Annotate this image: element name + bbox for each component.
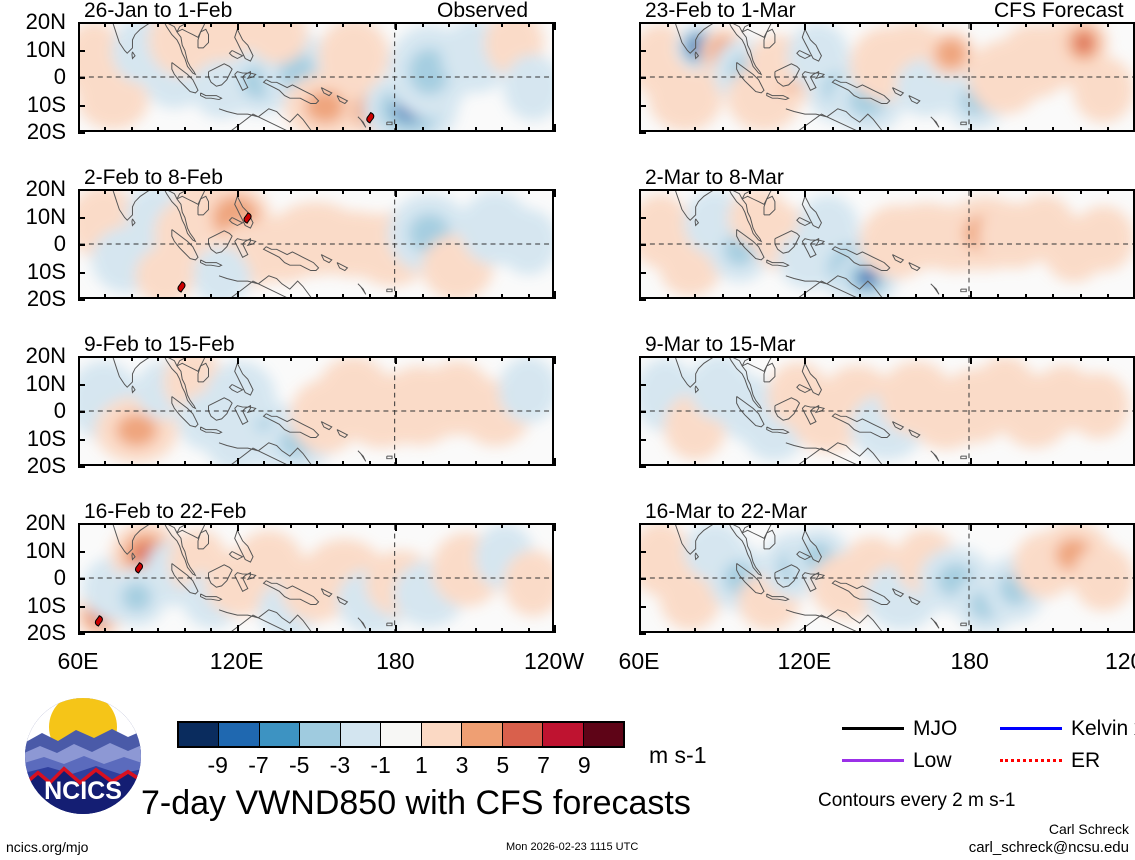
- x-axis-tickmark: [722, 294, 724, 299]
- x-axis-tickmark: [1052, 356, 1054, 361]
- x-axis-tickmark: [887, 189, 889, 194]
- x-axis-tickmark: [997, 356, 999, 361]
- x-axis-tickmark: [104, 294, 106, 299]
- x-axis-tickmark: [475, 523, 477, 528]
- x-axis-tickmark: [475, 628, 477, 633]
- x-axis-tickmark: [157, 461, 159, 466]
- x-axis-tickmark: [832, 628, 834, 633]
- map-field: [80, 358, 552, 464]
- y-axis-tickmark: [78, 299, 85, 301]
- low-line-icon: [842, 759, 904, 762]
- x-axis-tickmark: [395, 22, 397, 30]
- y-axis-tickmark: [639, 439, 646, 441]
- x-axis-tickmark: [859, 22, 861, 27]
- colorbar-units-label: m s-1: [649, 744, 707, 767]
- x-axis-tickmark: [722, 189, 724, 194]
- x-axis-tickmark: [1080, 294, 1082, 299]
- credit-email[interactable]: carl_schreck@ncsu.edu: [969, 840, 1129, 855]
- x-axis-tickmark: [639, 124, 641, 132]
- x-axis-tickmark: [1025, 356, 1027, 361]
- y-axis-tickmark: [639, 466, 646, 468]
- x-axis-tickmark: [722, 461, 724, 466]
- x-axis-tickmark: [1080, 189, 1082, 194]
- x-axis-tickmark: [1025, 189, 1027, 194]
- x-axis-tick-label: 120E: [195, 650, 279, 673]
- y-axis-tick-label: 0: [0, 567, 66, 589]
- x-axis-tickmark: [554, 124, 556, 132]
- x-axis-tickmark: [887, 461, 889, 466]
- colorbar-segment: [584, 723, 623, 746]
- x-axis-tick-label: 120E: [762, 650, 846, 673]
- x-axis-tickmark: [694, 294, 696, 299]
- x-axis-tickmark: [78, 458, 80, 466]
- colorbar-segment: [300, 723, 340, 746]
- x-axis-tickmark: [887, 628, 889, 633]
- x-axis-tickmark: [475, 189, 477, 194]
- x-axis-tickmark: [501, 461, 503, 466]
- y-axis-tickmark: [639, 633, 646, 635]
- x-axis-tickmark: [342, 294, 344, 299]
- map-panel: [639, 523, 1135, 633]
- y-axis-tickmark: [639, 244, 646, 246]
- x-axis-tickmark: [131, 523, 133, 528]
- x-axis-tickmark: [501, 356, 503, 361]
- ncics-logo-text: NCICS: [44, 777, 122, 805]
- x-axis-tickmark: [184, 356, 186, 361]
- main-title: 7-day VWND850 with CFS forecasts: [141, 786, 691, 820]
- map-field: [80, 525, 552, 631]
- x-axis-tickmark: [369, 294, 371, 299]
- x-axis-tickmark: [859, 628, 861, 633]
- map-panel: [78, 523, 554, 633]
- y-axis-tickmark: [639, 384, 646, 386]
- x-axis-tickmark: [1107, 461, 1109, 466]
- x-axis-tickmark: [639, 625, 641, 633]
- y-axis-tickmark: [639, 132, 646, 134]
- x-axis-tickmark: [369, 189, 371, 194]
- x-axis-tickmark: [104, 628, 106, 633]
- panel-title: 9-Mar to 15-Mar: [645, 334, 796, 355]
- x-axis-tickmark: [237, 124, 239, 132]
- y-axis-tickmark: [78, 77, 85, 79]
- x-axis-tickmark: [554, 22, 556, 30]
- x-axis-tickmark: [832, 127, 834, 132]
- x-axis-tickmark: [369, 523, 371, 528]
- x-axis-tickmark: [263, 628, 265, 633]
- x-axis-tickmark: [157, 189, 159, 194]
- x-axis-tickmark: [832, 294, 834, 299]
- x-axis-tickmark: [369, 461, 371, 466]
- x-axis-tickmark: [528, 356, 530, 361]
- x-axis-tickmark: [210, 356, 212, 361]
- legend-label-mjo: MJO: [913, 718, 957, 739]
- x-axis-tickmark: [395, 356, 397, 364]
- x-axis-tickmark: [263, 523, 265, 528]
- x-axis-tickmark: [448, 294, 450, 299]
- x-axis-tickmark: [237, 291, 239, 299]
- y-axis-tickmark: [78, 633, 85, 635]
- panel-title: 2-Mar to 8-Mar: [645, 167, 784, 188]
- x-axis-tickmark: [942, 22, 944, 27]
- x-axis-tickmark: [749, 189, 751, 194]
- x-axis-tickmark: [395, 625, 397, 633]
- x-axis-tickmark: [639, 356, 641, 364]
- x-axis-tickmark: [1080, 461, 1082, 466]
- colorbar-segment: [179, 723, 219, 746]
- x-axis-tickmark: [777, 523, 779, 528]
- x-axis-tickmark: [832, 523, 834, 528]
- x-axis-tickmark: [1080, 127, 1082, 132]
- x-axis-tickmark: [970, 356, 972, 364]
- map-field: [641, 191, 1133, 297]
- x-axis-tickmark: [263, 356, 265, 361]
- panel-title: 16-Mar to 22-Mar: [645, 501, 807, 522]
- x-axis-tickmark: [237, 189, 239, 197]
- x-axis-tickmark: [1052, 523, 1054, 528]
- footer-site-link[interactable]: ncics.org/mjo: [6, 840, 88, 854]
- x-axis-tickmark: [131, 189, 133, 194]
- x-axis-tickmark: [639, 523, 641, 531]
- x-axis-tickmark: [1052, 189, 1054, 194]
- x-axis-tickmark: [342, 127, 344, 132]
- x-axis-tickmark: [210, 461, 212, 466]
- x-axis-tickmark: [395, 523, 397, 531]
- x-axis-tickmark: [804, 458, 806, 466]
- y-axis-tickmark: [78, 384, 85, 386]
- x-axis-tickmark: [422, 127, 424, 132]
- x-axis-tickmark: [722, 127, 724, 132]
- x-axis-tickmark: [237, 22, 239, 30]
- x-axis-tickmark: [1107, 189, 1109, 194]
- x-axis-tickmark: [184, 294, 186, 299]
- x-axis-tickmark: [639, 291, 641, 299]
- x-axis-tickmark: [342, 189, 344, 194]
- x-axis-tickmark: [667, 189, 669, 194]
- x-axis-tickmark: [369, 356, 371, 361]
- x-axis-tickmark: [777, 294, 779, 299]
- x-axis-tickmark: [369, 628, 371, 633]
- x-axis-tickmark: [942, 523, 944, 528]
- x-axis-tickmark: [395, 458, 397, 466]
- colorbar-segment: [503, 723, 543, 746]
- x-axis-tickmark: [131, 294, 133, 299]
- colorbar-segment: [260, 723, 300, 746]
- x-axis-tickmark: [104, 461, 106, 466]
- x-axis-tickmark: [104, 356, 106, 361]
- x-axis-tickmark: [997, 523, 999, 528]
- x-axis-tickmark: [157, 356, 159, 361]
- er-line-icon: [1000, 759, 1062, 762]
- map-panel: [78, 22, 554, 132]
- x-axis-tickmark: [694, 461, 696, 466]
- x-axis-tickmark: [290, 189, 292, 194]
- y-axis-tickmark: [78, 606, 85, 608]
- x-axis-tickmark: [804, 124, 806, 132]
- x-axis-tickmark: [970, 625, 972, 633]
- x-axis-tickmark: [395, 124, 397, 132]
- x-axis-tickmark: [832, 461, 834, 466]
- x-axis-tickmark: [639, 22, 641, 30]
- x-axis-tickmark: [694, 628, 696, 633]
- colorbar-segment: [543, 723, 583, 746]
- y-axis-tick-label: 0: [0, 233, 66, 255]
- x-axis-tickmark: [422, 189, 424, 194]
- legend-item-low: Low: [842, 750, 952, 771]
- x-axis-tickmark: [104, 127, 106, 132]
- x-axis-tickmark: [1107, 356, 1109, 361]
- x-axis-tickmark: [1025, 628, 1027, 633]
- ncics-logo: NCICS: [24, 697, 142, 815]
- x-axis-tickmark: [777, 356, 779, 361]
- x-axis-tickmark: [915, 189, 917, 194]
- x-axis-tickmark: [104, 22, 106, 27]
- x-axis-tickmark: [804, 625, 806, 633]
- x-axis-tickmark: [859, 294, 861, 299]
- x-axis-tickmark: [1080, 628, 1082, 633]
- x-axis-tickmark: [832, 189, 834, 194]
- x-axis-tickmark: [887, 523, 889, 528]
- x-axis-tickmark: [210, 523, 212, 528]
- y-axis-tickmark: [639, 551, 646, 553]
- map-panel: [78, 189, 554, 299]
- panel-title: 9-Feb to 15-Feb: [84, 334, 235, 355]
- x-axis-tickmark: [78, 189, 80, 197]
- panel-title: 2-Feb to 8-Feb: [84, 167, 223, 188]
- x-axis-tickmark: [1025, 294, 1027, 299]
- x-axis-tickmark: [316, 523, 318, 528]
- panel-title: 23-Feb to 1-Mar: [645, 0, 796, 21]
- x-axis-tickmark: [422, 356, 424, 361]
- x-axis-tickmark: [942, 628, 944, 633]
- x-axis-tickmark: [722, 22, 724, 27]
- x-axis-tickmark: [184, 461, 186, 466]
- x-axis-tickmark: [1080, 356, 1082, 361]
- x-axis-tickmark: [554, 458, 556, 466]
- x-axis-tickmark: [997, 628, 999, 633]
- x-axis-tickmark: [1080, 22, 1082, 27]
- x-axis-tickmark: [915, 22, 917, 27]
- x-axis-tickmark: [859, 461, 861, 466]
- x-axis-tickmark: [667, 461, 669, 466]
- x-axis-tickmark: [316, 628, 318, 633]
- x-axis-tickmark: [915, 523, 917, 528]
- x-axis-tickmark: [554, 523, 556, 531]
- x-axis-tickmark: [859, 356, 861, 361]
- x-axis-tickmark: [369, 22, 371, 27]
- x-axis-tickmark: [694, 22, 696, 27]
- x-axis-tick-label: 180: [928, 650, 1012, 673]
- x-axis-tickmark: [859, 189, 861, 194]
- x-axis-tickmark: [184, 189, 186, 194]
- x-axis-tickmark: [422, 461, 424, 466]
- x-axis-tickmark: [528, 461, 530, 466]
- x-axis-tickmark: [777, 127, 779, 132]
- x-axis-tick-label: 120W: [512, 650, 596, 673]
- x-axis-tickmark: [78, 22, 80, 30]
- x-axis-tickmark: [749, 628, 751, 633]
- x-axis-tickmark: [157, 294, 159, 299]
- y-axis-tickmark: [78, 244, 85, 246]
- x-axis-tickmark: [915, 356, 917, 361]
- y-axis-tick-label: 20S: [0, 288, 66, 310]
- y-axis-tickmark: [639, 606, 646, 608]
- x-axis-tickmark: [915, 461, 917, 466]
- x-axis-tickmark: [448, 523, 450, 528]
- x-axis-tickmark: [316, 127, 318, 132]
- x-axis-tickmark: [131, 461, 133, 466]
- x-axis-tickmark: [157, 523, 159, 528]
- x-axis-tickmark: [804, 22, 806, 30]
- y-axis-tick-label: 20N: [0, 178, 66, 200]
- x-axis-tickmark: [915, 628, 917, 633]
- x-axis-tickmark: [777, 189, 779, 194]
- x-axis-tickmark: [997, 22, 999, 27]
- column-label-cfs-forecast: CFS Forecast: [994, 0, 1124, 21]
- mjo-line-icon: [842, 727, 904, 730]
- y-axis-tickmark: [78, 439, 85, 441]
- x-axis-tickmark: [859, 523, 861, 528]
- legend-label-kelvin: Kelvin x2: [1071, 718, 1135, 739]
- x-axis-tickmark: [342, 461, 344, 466]
- x-axis-tickmark: [422, 628, 424, 633]
- x-axis-tickmark: [887, 356, 889, 361]
- x-axis-tickmark: [78, 291, 80, 299]
- x-axis-tickmark: [448, 127, 450, 132]
- x-axis-tickmark: [104, 523, 106, 528]
- kelvin-line-icon: [1000, 727, 1062, 730]
- x-axis-tickmark: [501, 294, 503, 299]
- x-axis-tickmark: [970, 291, 972, 299]
- x-axis-tickmark: [501, 189, 503, 194]
- x-axis-tick-label: 120W: [1093, 650, 1135, 673]
- x-axis-tickmark: [694, 523, 696, 528]
- x-axis-tickmark: [395, 189, 397, 197]
- y-axis-tickmark: [639, 77, 646, 79]
- x-axis-tickmark: [131, 22, 133, 27]
- x-axis-tickmark: [448, 356, 450, 361]
- x-axis-tickmark: [942, 461, 944, 466]
- x-axis-tickmark: [78, 523, 80, 531]
- x-axis-tickmark: [554, 189, 556, 197]
- x-axis-tickmark: [1025, 22, 1027, 27]
- x-axis-tickmark: [667, 127, 669, 132]
- x-axis-tickmark: [422, 523, 424, 528]
- panel-title: 26-Jan to 1-Feb: [84, 0, 232, 21]
- x-axis-tickmark: [501, 127, 503, 132]
- x-axis-tickmark: [832, 22, 834, 27]
- x-axis-tickmark: [554, 625, 556, 633]
- y-axis-tick-label: 20S: [0, 121, 66, 143]
- x-axis-tickmark: [1080, 523, 1082, 528]
- y-axis-tickmark: [639, 217, 646, 219]
- y-axis-tick-label: 10N: [0, 540, 66, 562]
- x-axis-tickmark: [263, 294, 265, 299]
- credit-author: Carl Schreck: [1049, 822, 1129, 836]
- x-axis-tickmark: [263, 461, 265, 466]
- map-panel: [639, 356, 1135, 466]
- x-axis-tickmark: [749, 22, 751, 27]
- y-axis-tickmark: [639, 50, 646, 52]
- x-axis-tickmark: [749, 294, 751, 299]
- x-axis-tickmark: [667, 294, 669, 299]
- x-axis-tickmark: [528, 127, 530, 132]
- x-axis-tickmark: [997, 127, 999, 132]
- x-axis-tickmark: [1052, 294, 1054, 299]
- x-axis-tickmark: [184, 127, 186, 132]
- y-axis-tickmark: [78, 578, 85, 580]
- x-axis-tickmark: [475, 22, 477, 27]
- x-axis-tickmark: [804, 291, 806, 299]
- x-axis-tickmark: [290, 22, 292, 27]
- x-axis-tickmark: [694, 189, 696, 194]
- x-axis-tickmark: [157, 22, 159, 27]
- x-axis-tickmark: [777, 628, 779, 633]
- y-axis-tickmark: [78, 466, 85, 468]
- x-axis-tickmark: [157, 628, 159, 633]
- x-axis-tickmark: [722, 523, 724, 528]
- x-axis-tickmark: [342, 523, 344, 528]
- x-axis-tickmark: [694, 127, 696, 132]
- x-axis-tickmark: [528, 628, 530, 633]
- x-axis-tickmark: [290, 628, 292, 633]
- legend-item-mjo: MJO: [842, 718, 957, 739]
- y-axis-tickmark: [78, 272, 85, 274]
- y-axis-tick-label: 20N: [0, 11, 66, 33]
- y-axis-tickmark: [639, 272, 646, 274]
- x-axis-tickmark: [1107, 22, 1109, 27]
- y-axis-tickmark: [78, 551, 85, 553]
- x-axis-tickmark: [78, 124, 80, 132]
- y-axis-tickmark: [639, 411, 646, 413]
- x-axis-tickmark: [970, 189, 972, 197]
- x-axis-tickmark: [237, 523, 239, 531]
- x-axis-tickmark: [210, 22, 212, 27]
- x-axis-tickmark: [887, 127, 889, 132]
- x-axis-tickmark: [290, 461, 292, 466]
- x-axis-tickmark: [722, 356, 724, 361]
- x-axis-tickmark: [970, 458, 972, 466]
- x-axis-tickmark: [448, 461, 450, 466]
- map-field: [641, 358, 1133, 464]
- map-field: [80, 24, 552, 130]
- y-axis-tick-label: 0: [0, 66, 66, 88]
- colorbar-segment: [341, 723, 381, 746]
- x-axis-tickmark: [1052, 127, 1054, 132]
- x-axis-tickmark: [970, 22, 972, 30]
- x-axis-tickmark: [448, 628, 450, 633]
- x-axis-tickmark: [316, 189, 318, 194]
- x-axis-tickmark: [475, 461, 477, 466]
- x-axis-tickmark: [777, 461, 779, 466]
- colorbar-segment: [219, 723, 259, 746]
- x-axis-tickmark: [237, 625, 239, 633]
- y-axis-tickmark: [78, 50, 85, 52]
- x-axis-tickmark: [749, 356, 751, 361]
- x-axis-tickmark: [915, 294, 917, 299]
- x-axis-tickmark: [804, 189, 806, 197]
- x-axis-tickmark: [1025, 461, 1027, 466]
- x-axis-tickmark: [997, 189, 999, 194]
- x-axis-tickmark: [970, 523, 972, 531]
- x-axis-tickmark: [290, 523, 292, 528]
- x-axis-tickmark: [887, 22, 889, 27]
- x-axis-tickmark: [342, 628, 344, 633]
- x-axis-tickmark: [237, 458, 239, 466]
- y-axis-tick-label: 10S: [0, 428, 66, 450]
- x-axis-tickmark: [157, 127, 159, 132]
- y-axis-tick-label: 20S: [0, 455, 66, 477]
- x-axis-tickmark: [501, 523, 503, 528]
